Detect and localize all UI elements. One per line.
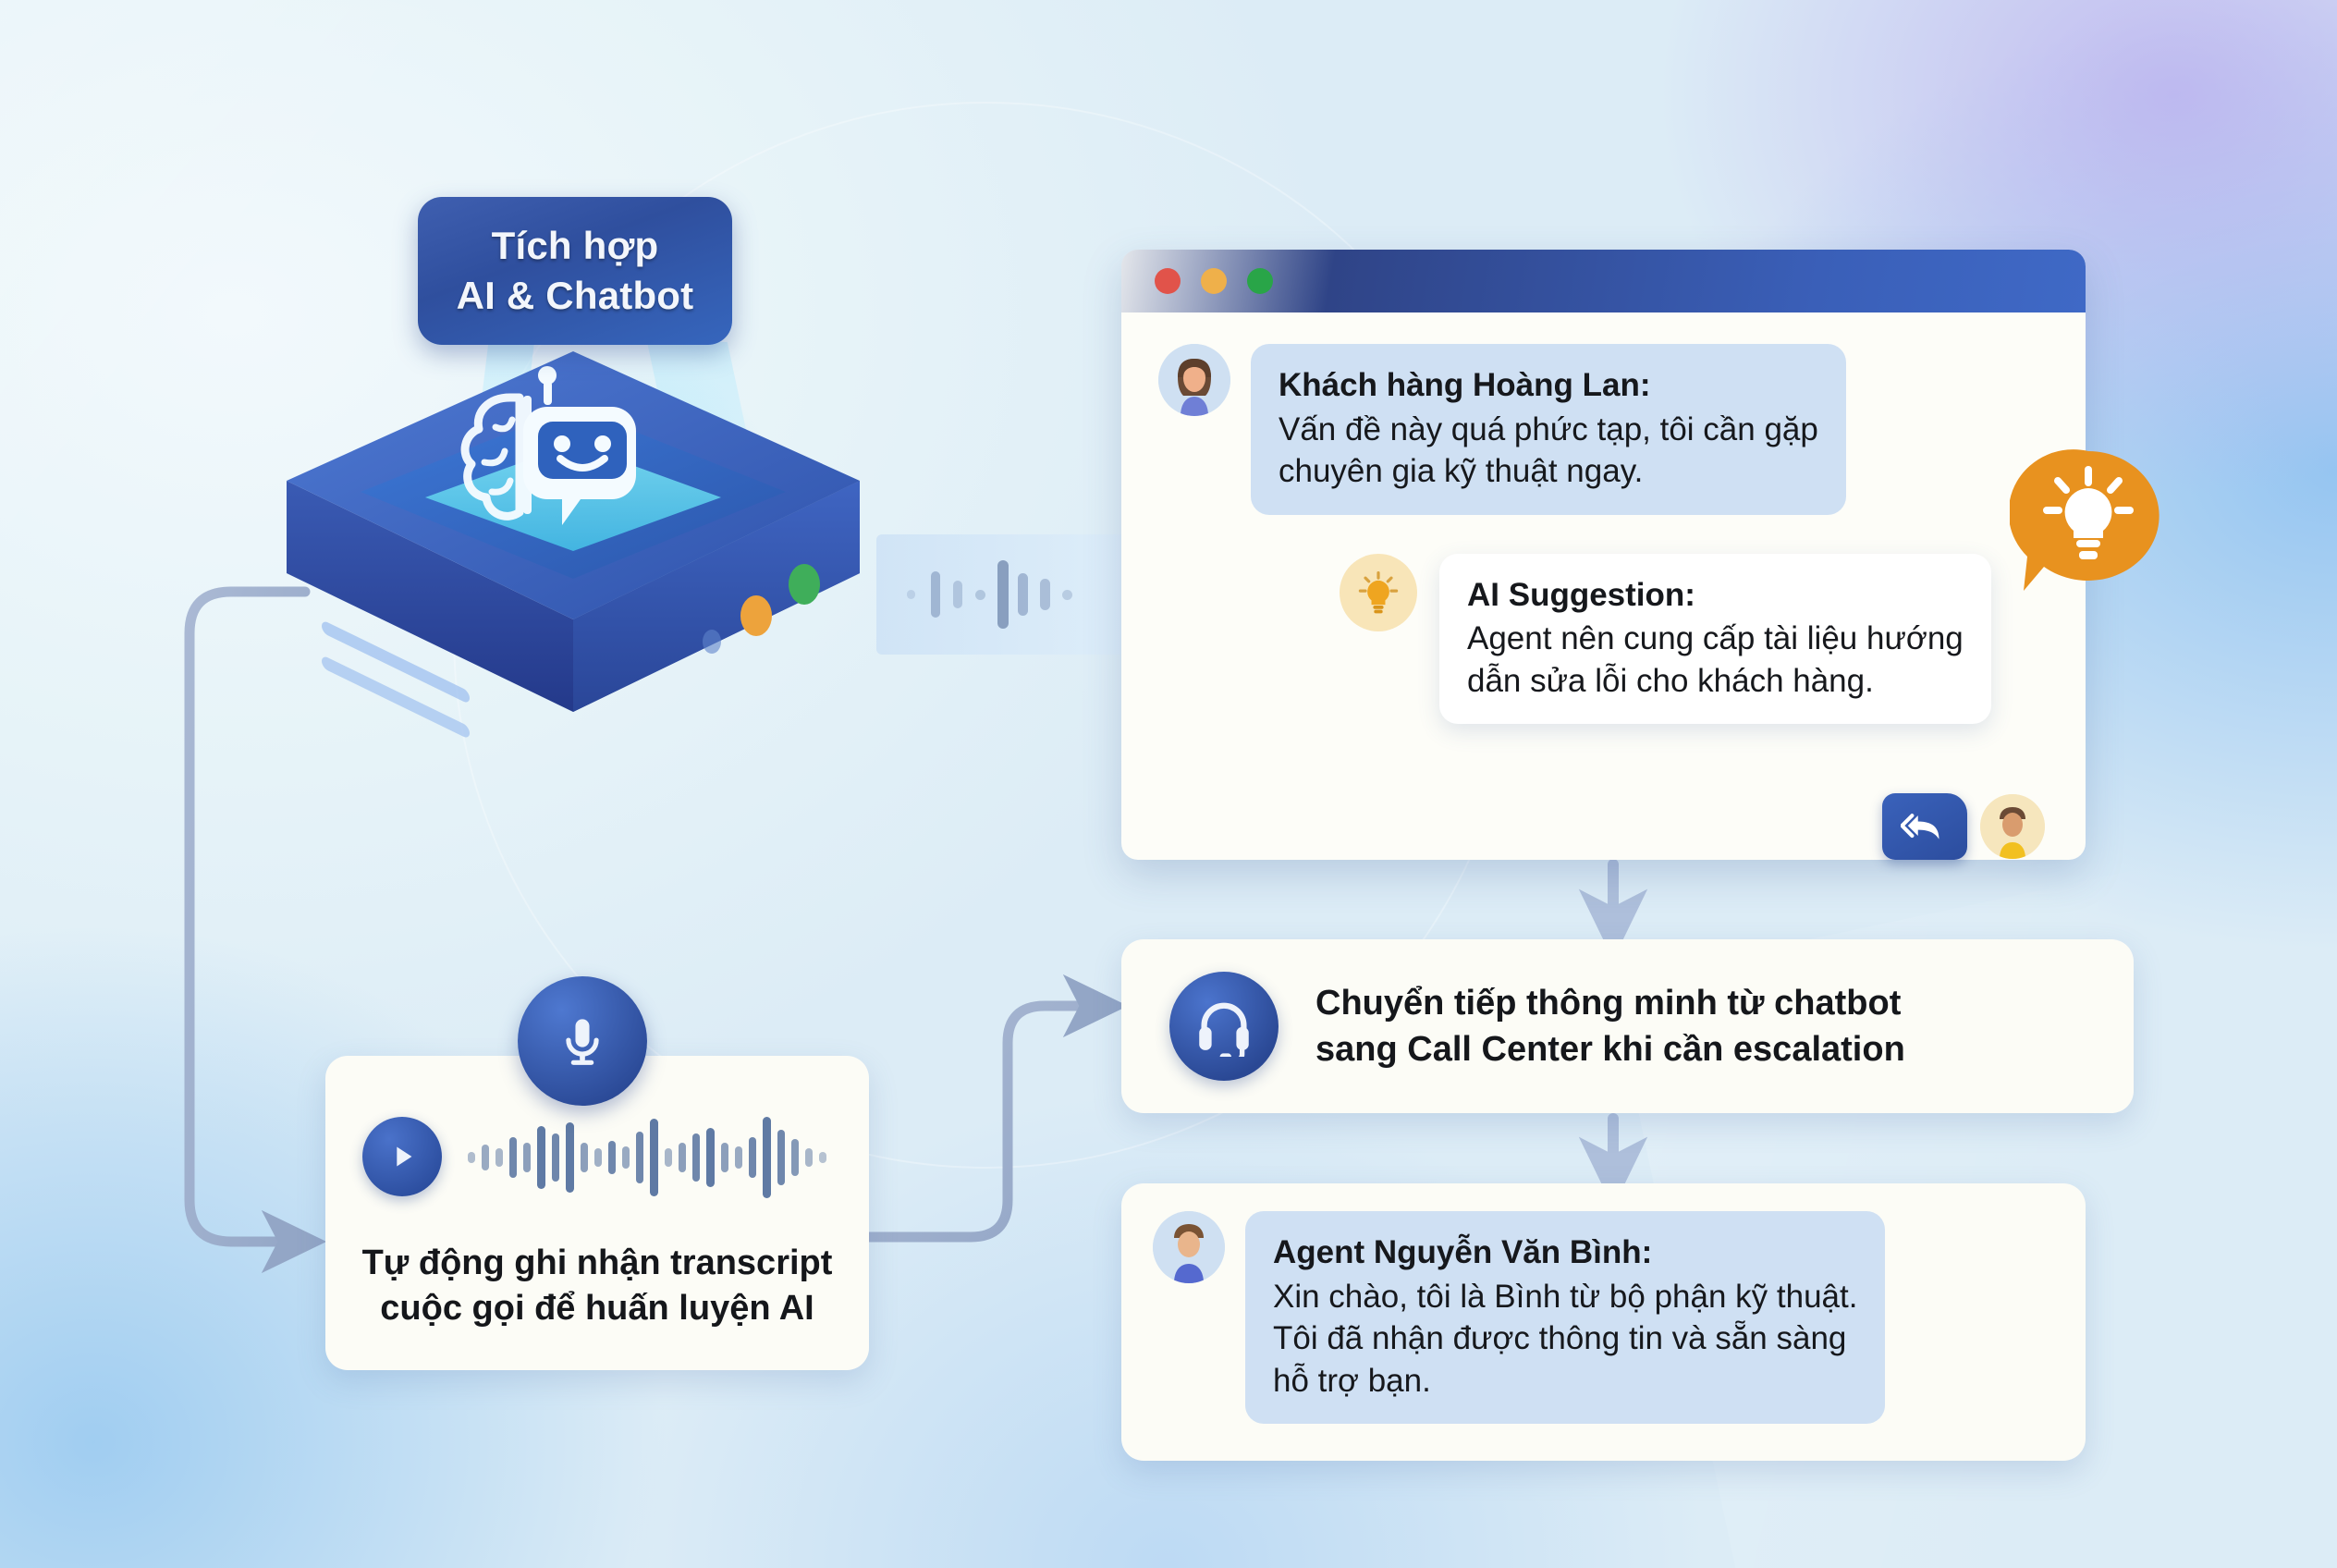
chat-body: Khách hàng Hoàng Lan: Vấn đề này quá phứ…	[1121, 312, 2086, 891]
headset-icon	[1169, 972, 1279, 1081]
title-line-1: Tích hợp	[492, 221, 659, 271]
message-ai-suggestion: AI Suggestion: Agent nên cung cấp tài li…	[1340, 554, 2049, 725]
escalation-text: Chuyển tiếp thông minh từ chatbot sang C…	[1315, 980, 1905, 1072]
ai-suggestion-line-2: dẫn sửa lỗi cho khách hàng.	[1467, 663, 1874, 699]
infographic-canvas: Tích hợp AI & Chatbot	[0, 0, 2337, 1568]
title-line-2: AI & Chatbot	[457, 271, 694, 321]
ai-server-device	[250, 342, 897, 860]
customer-text-line-2: chuyên gia kỹ thuật ngay.	[1279, 453, 1643, 489]
agent-message-card: Agent Nguyễn Văn Bình: Xin chào, tôi là …	[1121, 1183, 2086, 1461]
device-illustration	[250, 342, 897, 860]
transcript-caption-line-2: cuộc gọi để huấn luyện AI	[348, 1286, 847, 1331]
ai-suggestion-bubble: AI Suggestion: Agent nên cung cấp tài li…	[1439, 554, 1991, 725]
chat-window[interactable]: Khách hàng Hoàng Lan: Vấn đề này quá phứ…	[1121, 250, 2086, 860]
agent-bubble: Agent Nguyễn Văn Bình: Xin chào, tôi là …	[1245, 1211, 1885, 1424]
customer-text-line-1: Vấn đề này quá phức tạp, tôi cần gặp	[1279, 411, 1818, 447]
escalation-card: Chuyển tiếp thông minh từ chatbot sang C…	[1121, 939, 2134, 1113]
escalation-line-2: sang Call Center khi cần escalation	[1315, 1026, 1905, 1072]
transcript-caption-line-1: Tự động ghi nhận transcript	[348, 1241, 847, 1286]
maximize-dot[interactable]	[1247, 268, 1273, 294]
ai-suggestion-line-1: Agent nên cung cấp tài liệu hướng	[1467, 620, 1964, 656]
agent-text-line-2: Tôi đã nhận được thông tin và sẵn sàng	[1273, 1320, 1846, 1356]
reply-controls[interactable]	[1882, 793, 2045, 860]
lightbulb-speech-bubble-icon	[2010, 444, 2167, 601]
play-icon[interactable]	[362, 1117, 442, 1196]
agent-text-line-1: Xin chào, tôi là Bình từ bộ phận kỹ thuậ…	[1273, 1279, 1857, 1315]
lightbulb-icon	[1340, 554, 1417, 631]
minimize-dot[interactable]	[1201, 268, 1227, 294]
agent-name: Agent Nguyễn Văn Bình:	[1273, 1231, 1857, 1274]
message-customer: Khách hàng Hoàng Lan: Vấn đề này quá phứ…	[1158, 344, 2049, 515]
agent-avatar-yellow	[1980, 794, 2045, 859]
transcript-caption: Tự động ghi nhận transcript cuộc gọi để …	[325, 1241, 869, 1332]
reply-all-icon[interactable]	[1882, 793, 1967, 860]
agent-avatar	[1153, 1211, 1225, 1283]
agent-message-row: Agent Nguyễn Văn Bình: Xin chào, tôi là …	[1121, 1183, 2086, 1452]
agent-text-line-3: hỗ trợ bạn.	[1273, 1363, 1431, 1399]
microphone-icon[interactable]	[518, 976, 647, 1106]
device-to-browser-waveform	[876, 534, 1143, 655]
customer-bubble: Khách hàng Hoàng Lan: Vấn đề này quá phứ…	[1251, 344, 1846, 515]
audio-waveform-icon	[894, 553, 1125, 636]
escalation-line-1: Chuyển tiếp thông minh từ chatbot	[1315, 980, 1905, 1026]
customer-avatar	[1158, 344, 1230, 416]
title-badge: Tích hợp AI & Chatbot	[418, 197, 732, 345]
close-dot[interactable]	[1155, 268, 1181, 294]
customer-name: Khách hàng Hoàng Lan:	[1279, 364, 1818, 407]
window-title-bar[interactable]	[1121, 250, 2086, 312]
ai-suggestion-label: AI Suggestion:	[1467, 574, 1964, 617]
audio-waveform-icon	[466, 1106, 845, 1207]
